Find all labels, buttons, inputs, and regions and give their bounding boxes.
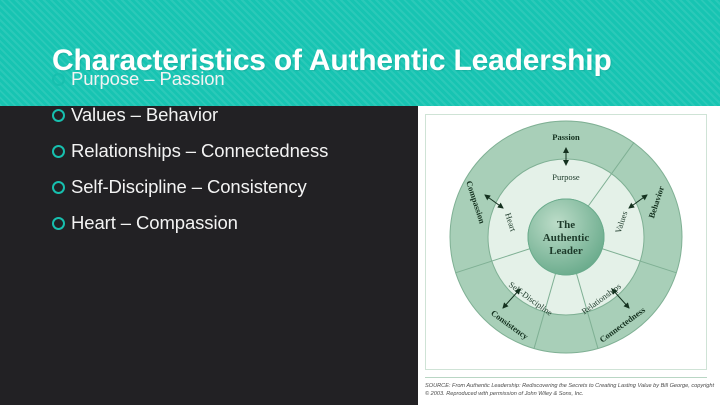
figure-border-box: The Authentic Leader Purpose Values Rela…: [425, 114, 707, 370]
diagram-center-line-2: Authentic: [543, 232, 590, 244]
authentic-leadership-circle-diagram: The Authentic Leader Purpose Values Rela…: [426, 115, 706, 369]
list-item: Values – Behavior: [52, 102, 412, 128]
diagram-outer-label-passion: Passion: [552, 132, 580, 142]
list-item-label: Values – Behavior: [71, 104, 218, 126]
list-item: Self-Discipline – Consistency: [52, 174, 412, 200]
ring-bullet-icon: [52, 109, 65, 122]
source-caption: SOURCE: From Authentic Leadership: Redis…: [425, 382, 715, 398]
presentation-slide: Characteristics of Authentic Leadership …: [0, 0, 720, 405]
diagram-center-line-1: The: [557, 219, 575, 231]
list-item-label: Self-Discipline – Consistency: [71, 176, 307, 198]
list-item-label: Heart – Compassion: [71, 212, 238, 234]
list-item: Heart – Compassion: [52, 210, 412, 236]
source-divider: [425, 377, 707, 378]
ring-bullet-icon: [52, 181, 65, 194]
list-item: Purpose – Passion: [52, 66, 412, 92]
list-item-label: Relationships – Connectedness: [71, 140, 328, 162]
ring-bullet-icon: [52, 73, 65, 86]
list-item-label: Purpose – Passion: [71, 68, 225, 90]
bullet-list: Purpose – Passion Values – Behavior Rela…: [52, 66, 412, 246]
ring-bullet-icon: [52, 217, 65, 230]
list-item: Relationships – Connectedness: [52, 138, 412, 164]
ring-bullet-icon: [52, 145, 65, 158]
diagram-inner-label-purpose: Purpose: [552, 172, 580, 182]
diagram-center-line-3: Leader: [549, 245, 583, 257]
figure-panel: The Authentic Leader Purpose Values Rela…: [418, 106, 720, 405]
